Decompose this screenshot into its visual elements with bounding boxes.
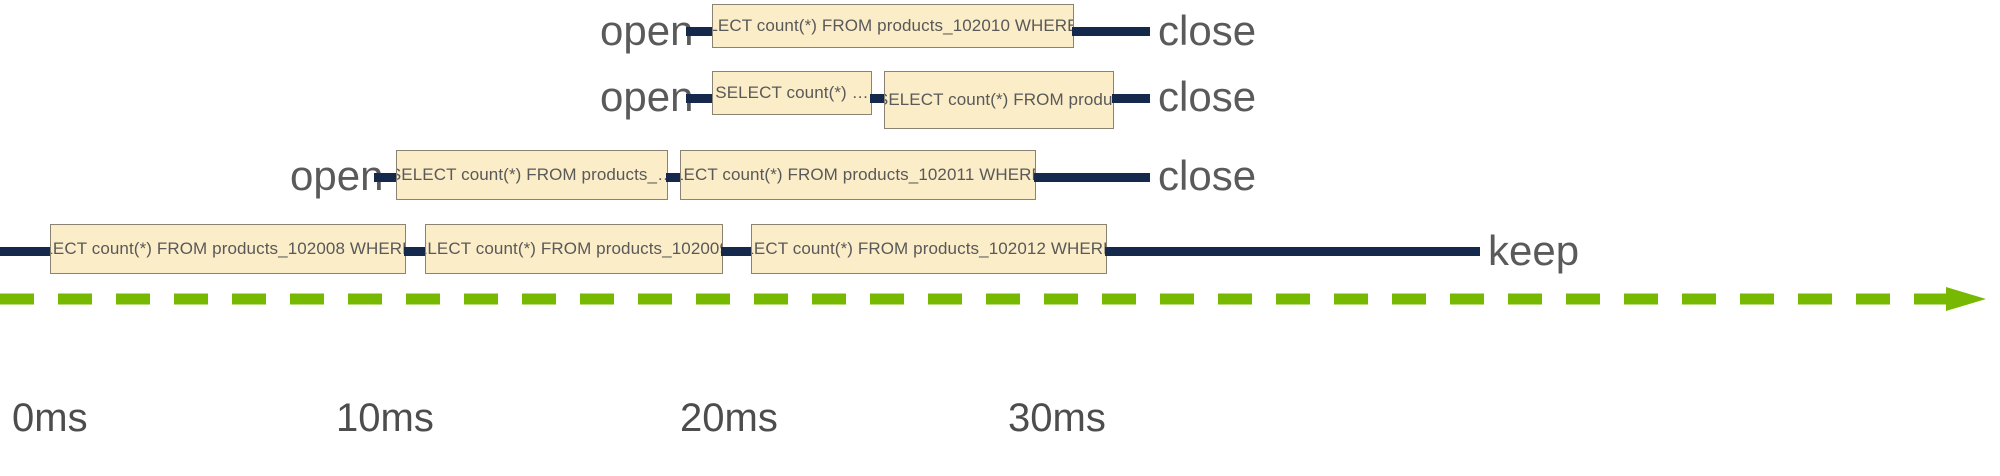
row-2-bar-segment-right (1112, 94, 1150, 103)
row-4-bar-segment-mid-2 (721, 247, 753, 256)
timeline-row-connection-1: open SELECT count(*) FROM products_10201… (0, 0, 2000, 60)
row-3-open-label: open (290, 155, 383, 197)
row-1-bar-segment-right (1072, 27, 1150, 36)
row-4-query-box-3: SELECT count(*) FROM products_102012 WHE… (751, 224, 1107, 274)
row-4-query-box-1: SELECT count(*) FROM products_102008 WHE… (50, 224, 406, 274)
row-4-query-box-2: SELECT count(*) FROM products_102009 .. (425, 224, 723, 274)
row-2-bar-segment-left (686, 94, 714, 103)
row-2-query-box-2: SELECT count(*) FROM produc (884, 71, 1114, 129)
time-axis-arrow (0, 286, 2000, 312)
axis-tick-2: 20ms (680, 398, 778, 438)
row-1-open-label: open (600, 10, 693, 52)
timeline-row-connection-3: open SELECT count(*) FROM products_… SEL… (0, 145, 2000, 205)
row-1-bar-segment-left (686, 27, 714, 36)
row-2-open-label: open (600, 76, 693, 118)
timeline-row-connection-2: open SELECT count(*) … SELECT count(*) F… (0, 66, 2000, 126)
row-3-query-box-1: SELECT count(*) FROM products_… (396, 150, 668, 200)
row-3-query-box-2: SELECT count(*) FROM products_102011 WHE… (680, 150, 1036, 200)
axis-tick-3: 30ms (1008, 398, 1106, 438)
row-1-query-box-1: SELECT count(*) FROM products_102010 WHE… (712, 4, 1074, 48)
axis-tick-0: 0ms (12, 398, 88, 438)
row-4-keep-label: keep (1488, 230, 1579, 272)
axis-tick-1: 10ms (336, 398, 434, 438)
row-4-bar-segment-end (1105, 247, 1480, 256)
row-2-query-box-1: SELECT count(*) … (712, 71, 872, 115)
timeline-row-connection-4: SELECT count(*) FROM products_102008 WHE… (0, 218, 2000, 278)
row-2-close-label: close (1158, 76, 1256, 118)
row-3-close-label: close (1158, 155, 1256, 197)
row-3-bar-segment-left (374, 173, 398, 182)
row-1-close-label: close (1158, 10, 1256, 52)
timeline-diagram: open SELECT count(*) FROM products_10201… (0, 0, 2000, 476)
row-3-bar-segment-right (1034, 173, 1150, 182)
row-4-bar-segment-start (0, 247, 54, 256)
